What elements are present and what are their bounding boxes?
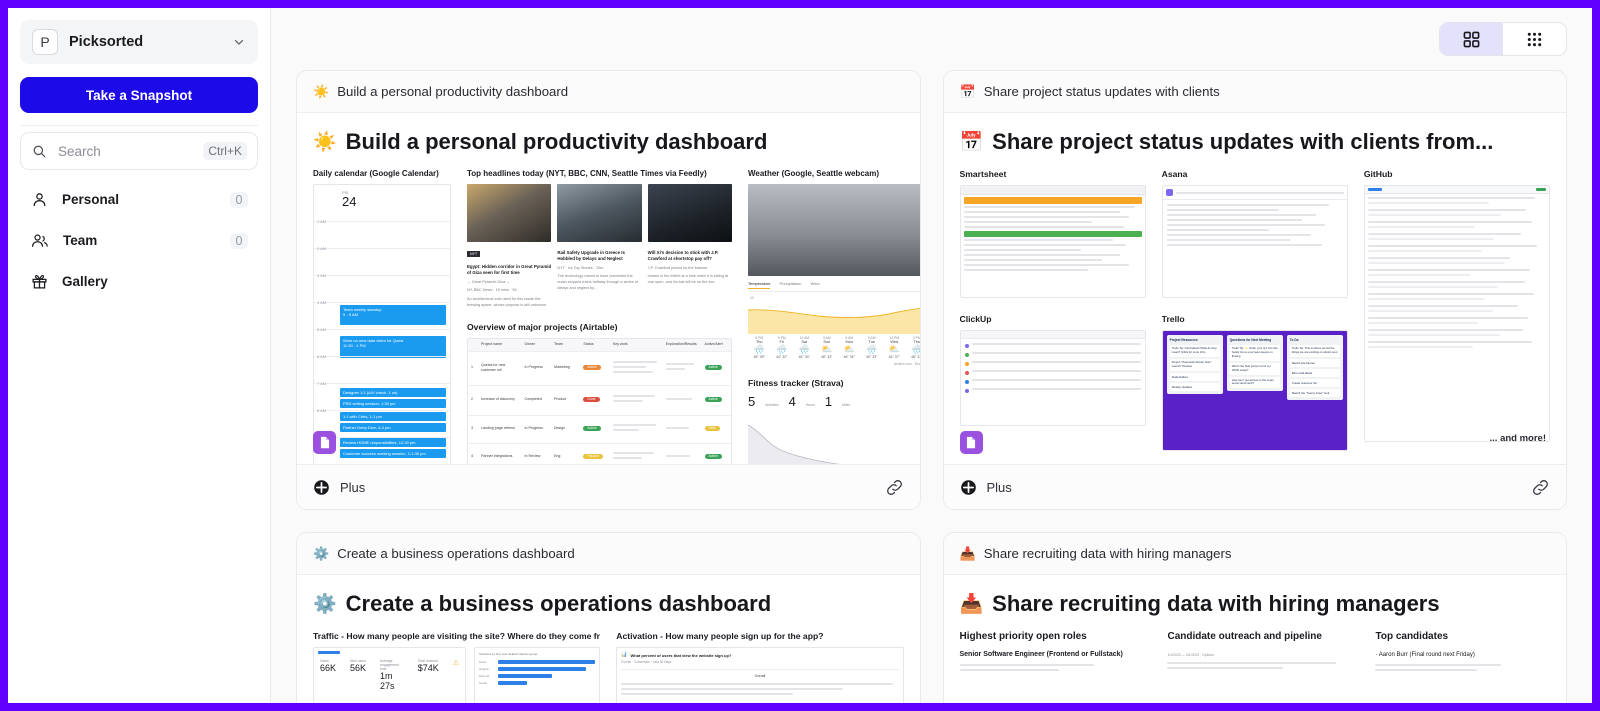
news-row: NYT Egypt: Hidden corridor in Great Pyra… (467, 184, 732, 309)
calendar-daynumber: 24 (342, 195, 450, 209)
weather-forecast: 6 PMThu🌧️48° 39° 9 PMFri🌧️44° 32° 12 AMS… (748, 336, 920, 359)
weather-icon: ⛅ (838, 344, 861, 355)
news-link: → Great Pyramid Giza → (467, 280, 551, 286)
news-item[interactable]: Rail Safety Upgrade in Greece Is Hobbled… (557, 184, 641, 309)
take-a-snapshot-button[interactable]: Take a Snapshot (20, 77, 258, 113)
table-cell: 1 (468, 365, 478, 370)
trello-card[interactable]: Create customer list (1290, 379, 1340, 387)
chevron-down-icon (232, 35, 246, 49)
panel-github: GitHub (1364, 169, 1550, 451)
sidebar-item-label: Team (63, 233, 230, 248)
document-title-row: ⚙️ Create a business operations dashboar… (313, 591, 904, 617)
table-cell: In Review (522, 454, 551, 459)
panel-title: Candidate outreach and pipeline (1167, 631, 1359, 642)
trello-list: To Do Trello Tip: This is where we list … (1287, 335, 1343, 400)
panel-title: Highest priority open roles (960, 631, 1152, 642)
main-content: ☀️ Build a personal productivity dashboa… (271, 8, 1592, 703)
forecast-day: 6 PMThu🌧️48° 39° (748, 336, 771, 359)
status-badge: Done (583, 397, 599, 402)
panel-smartsheet: Smartsheet (960, 169, 1146, 451)
sidebar-item-count: 0 (230, 233, 248, 249)
plan-label: Plus (987, 480, 1532, 495)
search-input[interactable]: Search Ctrl+K (20, 132, 258, 170)
panel-title: Smartsheet (960, 169, 1146, 179)
calendar-icon: 📅 (960, 85, 976, 98)
activation-funnel: 📊 What percent of users that view the we… (616, 647, 903, 703)
status-badge: Paused (583, 454, 603, 459)
preview-panels: Smartsheet (960, 169, 1551, 451)
weather-icon: 🌧️ (771, 344, 794, 355)
tab-precipitation[interactable]: Precipitation (779, 281, 801, 289)
gear-icon: ⚙️ (313, 547, 329, 560)
table-cell: Increase of discovery (478, 397, 522, 402)
document-title: Build a personal productivity dashboard (346, 129, 768, 155)
trello-card[interactable]: Edit email labels (1290, 369, 1340, 377)
status-badge: Active (583, 365, 600, 370)
panel-top-candidates: Top candidates · Aaron Burr (Final round… (1375, 631, 1550, 674)
trello-card[interactable]: Sketch site banner (1290, 359, 1340, 367)
sun-icon: ☀️ (313, 85, 329, 98)
panel-traffic: Traffic - How many people are visiting t… (313, 631, 600, 703)
sidebar-item-personal[interactable]: Personal 0 (20, 179, 258, 220)
plus-circle-icon (960, 479, 977, 496)
stat-value: 5 (748, 394, 755, 409)
card-header: ☀️ Build a personal productivity dashboa… (297, 71, 920, 113)
traffic-kpi-card: Users66K New users56K Average engagement… (313, 647, 466, 703)
forecast-day: 12 PMWed⛅46° 37° (883, 336, 906, 359)
chart-icon: 📊 (621, 652, 627, 658)
calendar-event[interactable]: Partner Deep Dive, 4-4 pm (340, 423, 446, 432)
plus-circle-icon (313, 479, 330, 496)
github-screenshot (1364, 185, 1550, 442)
document-title-row: 📅 Share project status updates with clie… (960, 129, 1551, 155)
table-col: Exploration/Results (663, 342, 702, 347)
grid-3x3-dots-icon (1526, 31, 1543, 48)
calendar-event[interactable]: Designer 1:1 (A/V check, 1 on) (340, 388, 446, 397)
link-icon[interactable] (885, 478, 904, 497)
trello-card[interactable]: Trello Tip: Card labels! What do they me… (1170, 345, 1220, 357)
trello-screenshot: Project Resources Trello Tip: Card label… (1162, 330, 1348, 451)
trello-card[interactable]: Project "Teamwork Dream Now" Launch Time… (1170, 359, 1220, 371)
sun-icon: ☀️ (313, 130, 337, 154)
preview-panels: Daily calendar (Google Calendar) FRI 24 … (313, 169, 904, 464)
news-item[interactable]: Will Xi's decision to stick with J.P. Cr… (648, 184, 732, 309)
table-cell: In Progress (522, 426, 551, 431)
forecast-day: 12 AMSat🌧️46° 33° (793, 336, 816, 359)
panel-title: Activation - How many people sign up for… (616, 631, 903, 641)
status-badge: Active (583, 426, 600, 431)
sidebar-item-label: Personal (62, 192, 230, 207)
weather-icon: ⛅ (816, 344, 839, 355)
snapshot-card[interactable]: ⚙️ Create a business operations dashboar… (296, 532, 921, 703)
news-meta: J.P. Crawford picked by the Mariner (648, 266, 732, 272)
table-cell: 3 (468, 426, 478, 431)
tab-wind[interactable]: Wind (810, 281, 819, 289)
webcam-image (748, 184, 920, 276)
calendar-hour: 7 AM (317, 381, 326, 386)
link-icon[interactable] (1531, 478, 1550, 497)
panel-daily-calendar: Daily calendar (Google Calendar) FRI 24 … (313, 169, 451, 464)
panel-title: Overview of major projects (Airtable) (467, 322, 732, 332)
preview-panels: Traffic - How many people are visiting t… (313, 631, 904, 703)
search-icon (32, 144, 47, 159)
panel-title: Fitness tracker (Strava) (748, 378, 920, 388)
calendar-event[interactable]: PRD writing session, 1:30 pm (340, 399, 446, 408)
card-grid: ☀️ Build a personal productivity dashboa… (271, 70, 1592, 703)
weather-icon: 🌧️ (861, 344, 884, 355)
asana-screenshot (1162, 185, 1348, 298)
view-toggle-group (1439, 22, 1567, 56)
candidate-item: · Aaron Burr (Final round next Friday) (1375, 652, 1550, 658)
tab-temperature[interactable]: Temperature (748, 281, 770, 289)
panel-pipeline: Candidate outreach and pipeline 1/1/2023… (1167, 631, 1359, 674)
panel-title: Daily calendar (Google Calendar) (313, 169, 451, 178)
inbox-tray-icon: 📥 (960, 592, 984, 616)
trello-card[interactable]: Weekly Updates (1170, 383, 1220, 391)
panel-open-roles: Highest priority open roles Senior Softw… (960, 631, 1152, 674)
gift-icon (31, 273, 48, 290)
weather-icon: 🌧️ (748, 344, 771, 355)
trello-list-title: Project Resources (1170, 338, 1220, 342)
stat-label: Hours (806, 403, 815, 407)
panel-title: Top headlines today (NYT, BBC, CNN, Seat… (467, 169, 732, 178)
stat-value: 4 (789, 394, 796, 409)
card-header: 📥 Share recruiting data with hiring mana… (944, 533, 1567, 575)
table-col: Project name (478, 342, 522, 347)
card-footer: Plus (944, 464, 1567, 509)
table-row[interactable]: 3 Landing page refresh In Progress Desig… (468, 416, 731, 444)
weather-icon: ⛅ (883, 344, 906, 355)
trello-card[interactable]: Who's the best person to fix my HTML set… (1230, 363, 1280, 375)
forecast-day: 9 AMTue🌧️45° 33° (861, 336, 884, 359)
trello-card[interactable]: How can I get access to the super secret… (1230, 377, 1280, 389)
forecast-day: 3 PMThu🌧️48° 37° (906, 336, 920, 359)
grid-2x2-icon (1463, 31, 1480, 48)
activation-question: What percent of users that view the webs… (630, 653, 731, 658)
trello-list: Questions for Next Meeting Trello Tip: ✨… (1227, 335, 1283, 391)
table-cell: 4 (468, 454, 478, 459)
document-title-row: ☀️ Build a personal productivity dashboa… (313, 129, 904, 155)
card-preview: ⚙️ Create a business operations dashboar… (297, 575, 920, 703)
calendar-widget: FRI 24 1 AM 2 AM 3 AM 4 AM Team w (313, 184, 451, 464)
panel-title: ClickUp (960, 314, 1146, 324)
sidebar-item-team[interactable]: Team 0 (20, 220, 258, 261)
calendar-hour: 2 AM (317, 246, 326, 251)
weather-chart: 49 (748, 296, 920, 334)
table-row[interactable]: 2 Increase of discovery Completed Produc… (468, 386, 731, 416)
sidebar-item-gallery[interactable]: Gallery (20, 261, 258, 302)
clickup-screenshot (960, 330, 1146, 426)
table-row[interactable]: 4 Partner integrations In Review Eng Pau… (468, 444, 731, 465)
news-meta: NYT · Ira Top Stories · 20m (557, 266, 641, 272)
plan-label: Plus (340, 480, 885, 495)
calendar-day: FRI 24 (314, 185, 450, 209)
table-cell: Landing page refresh (478, 426, 522, 431)
sidebar-item-count: 0 (230, 192, 248, 208)
panel-title: Trello (1162, 314, 1348, 324)
table-cell: In Progress (522, 365, 551, 370)
table-col: Active/Alert (702, 342, 731, 347)
activity-area-chart (748, 417, 920, 464)
workspace-switcher[interactable]: P Picksorted (20, 20, 258, 64)
sidebar-divider (20, 125, 258, 126)
search-placeholder: Search (58, 144, 203, 159)
workspace-name: Picksorted (69, 34, 232, 50)
trello-card[interactable]: Trello Tip: ✨ Order your Q's into this h… (1230, 345, 1280, 361)
smartsheet-screenshot (960, 185, 1146, 298)
kpi: New users56K (350, 659, 366, 691)
kpi: Average engagement time1m 27s (380, 659, 404, 691)
news-item[interactable]: NYT Egypt: Hidden corridor in Great Pyra… (467, 184, 551, 309)
table-col: Owner (522, 342, 551, 347)
card-header-title: Share project status updates with client… (984, 84, 1220, 99)
table-cell: 2 (468, 397, 478, 402)
panel-headlines: Top headlines today (NYT, BBC, CNN, Seat… (467, 169, 732, 464)
table-cell: Completed (522, 397, 551, 402)
table-cell: Eng (551, 454, 580, 459)
card-header: ⚙️ Create a business operations dashboar… (297, 533, 920, 575)
trello-list-title: Questions for Next Meeting (1230, 338, 1280, 342)
news-headline: Egypt: Hidden corridor in Great Pyramid … (467, 264, 551, 277)
stat-value: 1 (825, 394, 832, 409)
card-header-title: Build a personal productivity dashboard (337, 84, 568, 99)
document-badge[interactable] (960, 431, 983, 454)
inbox-tray-icon: 📥 (960, 547, 976, 560)
panel-weather: Weather (Google, Seattle webcam) Tempera… (748, 169, 920, 464)
panel-title: Top candidates (1375, 631, 1550, 642)
trello-list-title: To Do (1290, 338, 1340, 342)
preview-panels: Highest priority open roles Senior Softw… (960, 631, 1551, 674)
table-header-row: Project name Owner Team Status Key work … (468, 339, 731, 352)
activation-overall: Overall (621, 669, 898, 678)
card-header-title: Create a business operations dashboard (337, 546, 575, 561)
people-icon (31, 232, 49, 249)
calendar-grid: 1 AM 2 AM 3 AM 4 AM Team weekly standup … (314, 221, 450, 464)
calendar-hour: 1 AM (317, 219, 326, 224)
sidebar-nav: Personal 0 Team 0 Gallery (20, 179, 258, 302)
trello-card[interactable]: Trello Tip: This is where we list the th… (1290, 345, 1340, 357)
table-col: Key work (610, 342, 663, 347)
snapshot-card[interactable]: 📥 Share recruiting data with hiring mana… (943, 532, 1568, 703)
calendar-event[interactable]: Review HOME responsibilities, 12:30 pm (340, 438, 446, 447)
snapshot-card[interactable]: ☀️ Build a personal productivity dashboa… (296, 70, 921, 510)
calendar-event[interactable]: Work on new data video for Quest 11:30 -… (340, 336, 446, 358)
news-body: An architectural void used for this insi… (467, 297, 551, 308)
weather-icon: 🌧️ (793, 344, 816, 355)
card-footer: Plus (297, 464, 920, 509)
calendar-event[interactable]: 1:1 with Chris, 1-1 pm (340, 412, 446, 421)
app-window: P Picksorted Take a Snapshot Search Ctrl… (8, 8, 1592, 703)
airtable-widget: Project name Owner Team Status Key work … (467, 338, 732, 465)
trello-card[interactable]: Sketch the "Teamy Crew" look (1290, 389, 1340, 397)
table-col: Team (551, 342, 580, 347)
panel-asana: Asana (1162, 169, 1348, 451)
trello-card[interactable]: Stakeholders (1170, 373, 1220, 381)
traffic-bar-chart: Sessions by first user default channel g… (474, 647, 600, 703)
gear-icon: ⚙️ (313, 592, 337, 616)
view-grid-large-button[interactable] (1440, 23, 1503, 55)
kpi: Users66K (320, 659, 336, 691)
document-title: Share recruiting data with hiring manage… (992, 591, 1439, 617)
sidebar-item-label: Gallery (62, 274, 248, 289)
stat-label: Miles (842, 403, 850, 407)
view-grid-small-button[interactable] (1503, 23, 1566, 55)
table-cell: Partner integrations (478, 454, 522, 459)
forecast-day: 3 AMSun⛅48° 33° (816, 336, 839, 359)
calendar-hour: 6 AM (317, 354, 326, 359)
calendar-hour: 3 AM (317, 273, 326, 278)
workspace-avatar: P (32, 29, 58, 55)
open-role-item: Senior Software Engineer (Frontend or Fu… (960, 651, 1152, 658)
card-preview: 📅 Share project status updates with clie… (944, 113, 1567, 464)
calendar-hour: 4 AM (317, 300, 326, 305)
card-header: 📅 Share project status updates with clie… (944, 71, 1567, 113)
panel-title: Traffic - How many people are visiting t… (313, 631, 600, 641)
trello-list: Project Resources Trello Tip: Card label… (1167, 335, 1223, 394)
document-icon (319, 436, 331, 449)
document-badge[interactable] (313, 431, 336, 454)
chart-scale-label: 49 (750, 296, 754, 300)
toolbar (271, 8, 1592, 70)
document-icon (965, 436, 977, 449)
card-preview: 📥 Share recruiting data with hiring mana… (944, 575, 1567, 703)
search-shortcut: Ctrl+K (203, 142, 247, 160)
table-col: Status (580, 342, 609, 347)
calendar-hour: 8 AM (317, 408, 326, 413)
strava-stats: 5 Activities 4 Hours 1 Miles (748, 394, 920, 409)
temperature-area-chart (748, 296, 920, 334)
news-thumbnail (467, 184, 551, 242)
panel-title: GitHub (1364, 169, 1550, 179)
weather-icon: 🌧️ (906, 344, 920, 355)
calendar-event[interactable]: Team weekly standup 9 - 9 AM (340, 305, 446, 325)
news-thumbnail (648, 184, 732, 242)
weather-tabs: Temperature Precipitation Wind (748, 281, 920, 292)
table-cell: Marketing (551, 365, 580, 370)
table-cell: Quests for new customer roll (478, 363, 522, 374)
strava-chart (748, 417, 920, 464)
panel-title: Asana (1162, 169, 1348, 179)
news-headline: Rail Safety Upgrade in Greece Is Hobbled… (557, 250, 641, 263)
document-title: Create a business operations dashboard (346, 591, 771, 617)
news-body: means in the infield at a time when it i… (648, 274, 732, 285)
snapshot-card[interactable]: 📅 Share project status updates with clie… (943, 70, 1568, 510)
panel-title: Weather (Google, Seattle webcam) (748, 169, 920, 178)
news-source: NYT (467, 251, 480, 257)
document-title-row: 📥 Share recruiting data with hiring mana… (960, 591, 1551, 617)
table-cell: Product (551, 397, 580, 402)
news-meta: NY, BBC News · 19 mins · 39 (467, 288, 551, 294)
kpi-row: Users66K New users56K Average engagement… (314, 654, 465, 696)
news-headline: Will Xi's decision to stick with J.P. Cr… (648, 250, 732, 263)
table-row[interactable]: 1 Quests for new customer roll In Progre… (468, 352, 731, 386)
warning-icon: ⚠ (453, 659, 459, 691)
panel-activation: Activation - How many people sign up for… (616, 631, 903, 703)
kpi: Total revenue$74K (418, 659, 439, 691)
and-more-label: ... and more! (1490, 433, 1546, 444)
weather-credit: weather.com · More info (748, 362, 920, 366)
card-preview: ☀️ Build a personal productivity dashboa… (297, 113, 920, 464)
calendar-event[interactable]: Customer success working session, 1-1:30… (340, 449, 446, 458)
stat-label: Activities (765, 403, 778, 407)
pipeline-meta: 1/1/2023 — 3/1/2023 · Options (1167, 653, 1359, 657)
table-cell: Design (551, 426, 580, 431)
news-thumbnail (557, 184, 641, 242)
person-icon (31, 191, 48, 208)
sidebar: P Picksorted Take a Snapshot Search Ctrl… (8, 8, 271, 703)
news-body: The technology meant to have prevented t… (557, 274, 641, 291)
document-title: Share project status updates with client… (992, 129, 1493, 155)
activation-meta: Funnel · Conversion · Last 30 Days (621, 660, 898, 664)
calendar-hour: 5 AM (317, 327, 326, 332)
card-header-title: Share recruiting data with hiring manage… (984, 546, 1232, 561)
forecast-day: 6 AMMon⛅46° 34° (838, 336, 861, 359)
calendar-icon: 📅 (960, 130, 984, 154)
forecast-day: 9 PMFri🌧️44° 32° (771, 336, 794, 359)
